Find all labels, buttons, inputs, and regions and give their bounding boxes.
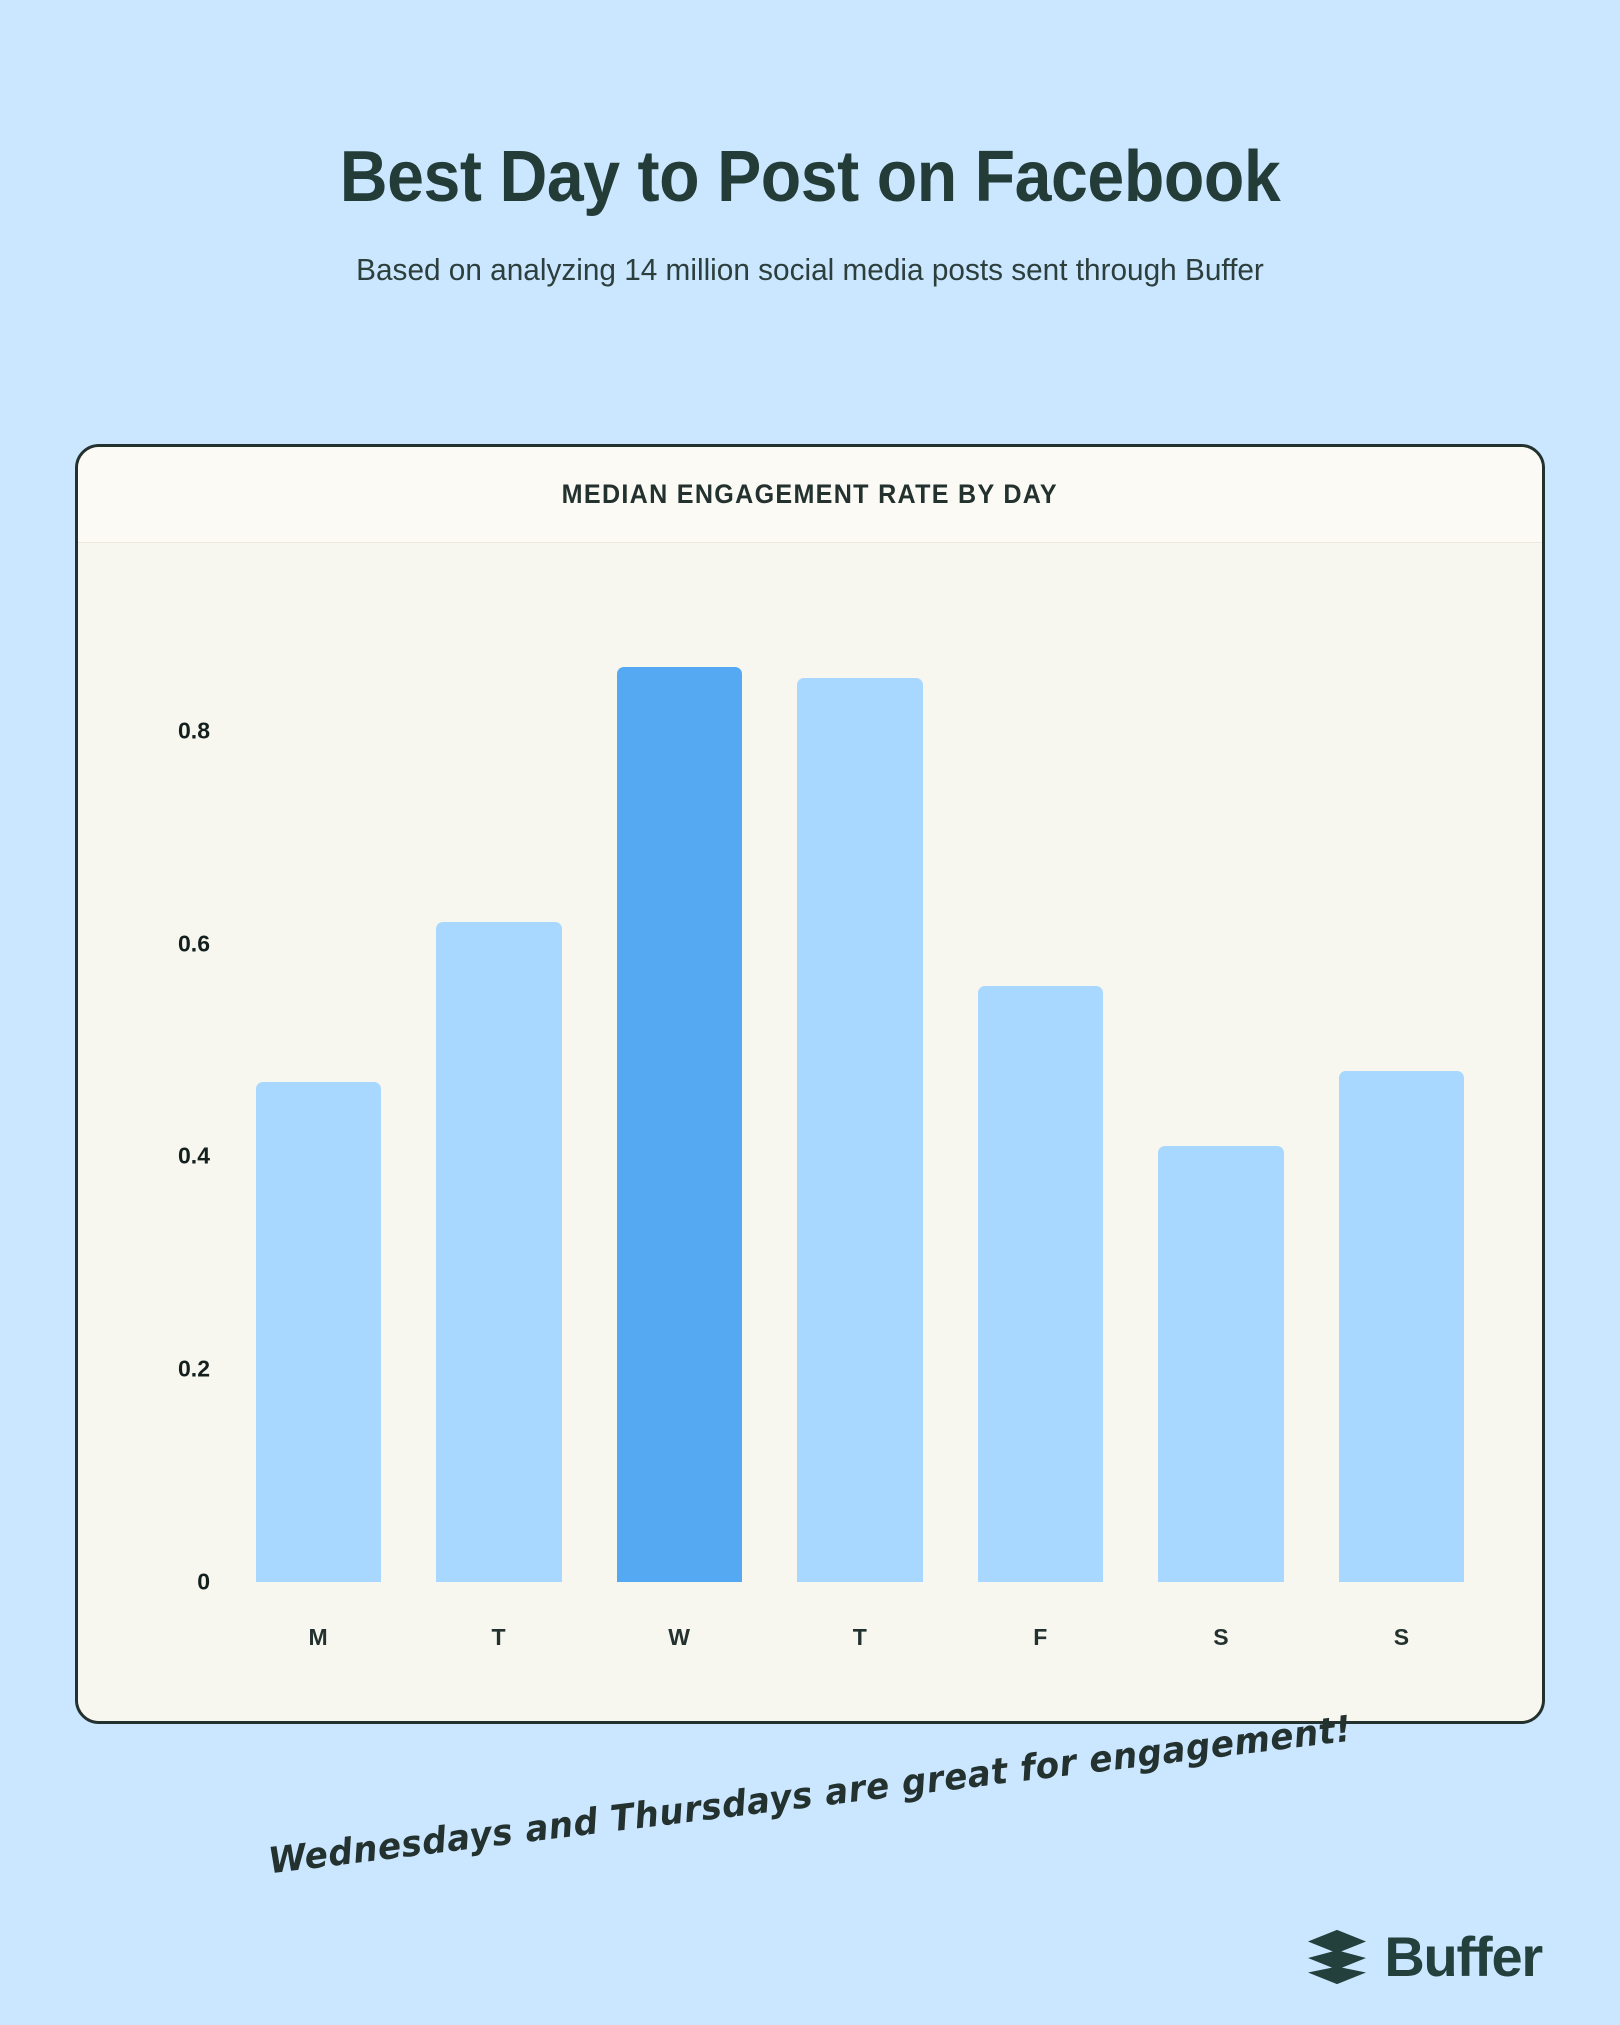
poster: Best Day to Post on Facebook Based on an…	[0, 0, 1620, 2025]
bar[interactable]	[978, 986, 1103, 1582]
bar-column: S	[1158, 1146, 1283, 1582]
x-axis-tick-label: W	[617, 1624, 742, 1651]
x-axis-tick-label: S	[1158, 1624, 1283, 1651]
page-title: Best Day to Post on Facebook	[65, 140, 1555, 216]
chart-title: MEDIAN ENGAGEMENT RATE BY DAY	[562, 479, 1058, 510]
bar-column: T	[797, 678, 922, 1582]
bar-column: W	[617, 667, 742, 1582]
y-axis-tick-label: 0	[197, 1569, 210, 1596]
buffer-logo: Buffer	[1306, 1928, 1542, 1986]
y-axis-tick-label: 0.2	[178, 1356, 210, 1383]
y-axis-tick-label: 0.4	[178, 1143, 210, 1170]
caption-text: Wednesdays and Thursdays are great for e…	[266, 1709, 1354, 1883]
bar[interactable]	[617, 667, 742, 1582]
x-axis-tick-label: F	[978, 1624, 1103, 1651]
bar[interactable]	[436, 922, 561, 1582]
chart-card-header: MEDIAN ENGAGEMENT RATE BY DAY	[78, 447, 1542, 543]
y-axis-tick-label: 0.8	[178, 717, 210, 744]
x-axis-tick-label: M	[256, 1624, 381, 1651]
bar[interactable]	[797, 678, 922, 1582]
bar-column: F	[978, 986, 1103, 1582]
y-axis: 00.20.40.60.8	[78, 543, 228, 1723]
poster-header: Best Day to Post on Facebook Based on an…	[0, 0, 1620, 288]
page-subtitle: Based on analyzing 14 million social med…	[32, 252, 1587, 288]
bar[interactable]	[256, 1082, 381, 1582]
bar-column: T	[436, 922, 561, 1582]
buffer-logo-text: Buffer	[1384, 1929, 1542, 1985]
bar[interactable]	[1158, 1146, 1283, 1582]
bar-column: M	[256, 1082, 381, 1582]
chart-card: MEDIAN ENGAGEMENT RATE BY DAY 00.20.40.6…	[75, 444, 1545, 1724]
caption: Wednesdays and Thursdays are great for e…	[0, 1775, 1620, 1816]
chart-plot-area: 00.20.40.60.8 MTWTFSS	[78, 543, 1542, 1723]
bar-series: MTWTFSS	[228, 543, 1492, 1723]
y-axis-tick-label: 0.6	[178, 930, 210, 957]
buffer-logo-icon	[1306, 1928, 1368, 1986]
x-axis-tick-label: T	[797, 1624, 922, 1651]
bar-column: S	[1339, 1071, 1464, 1582]
x-axis-tick-label: T	[436, 1624, 561, 1651]
x-axis-tick-label: S	[1339, 1624, 1464, 1651]
bar[interactable]	[1339, 1071, 1464, 1582]
